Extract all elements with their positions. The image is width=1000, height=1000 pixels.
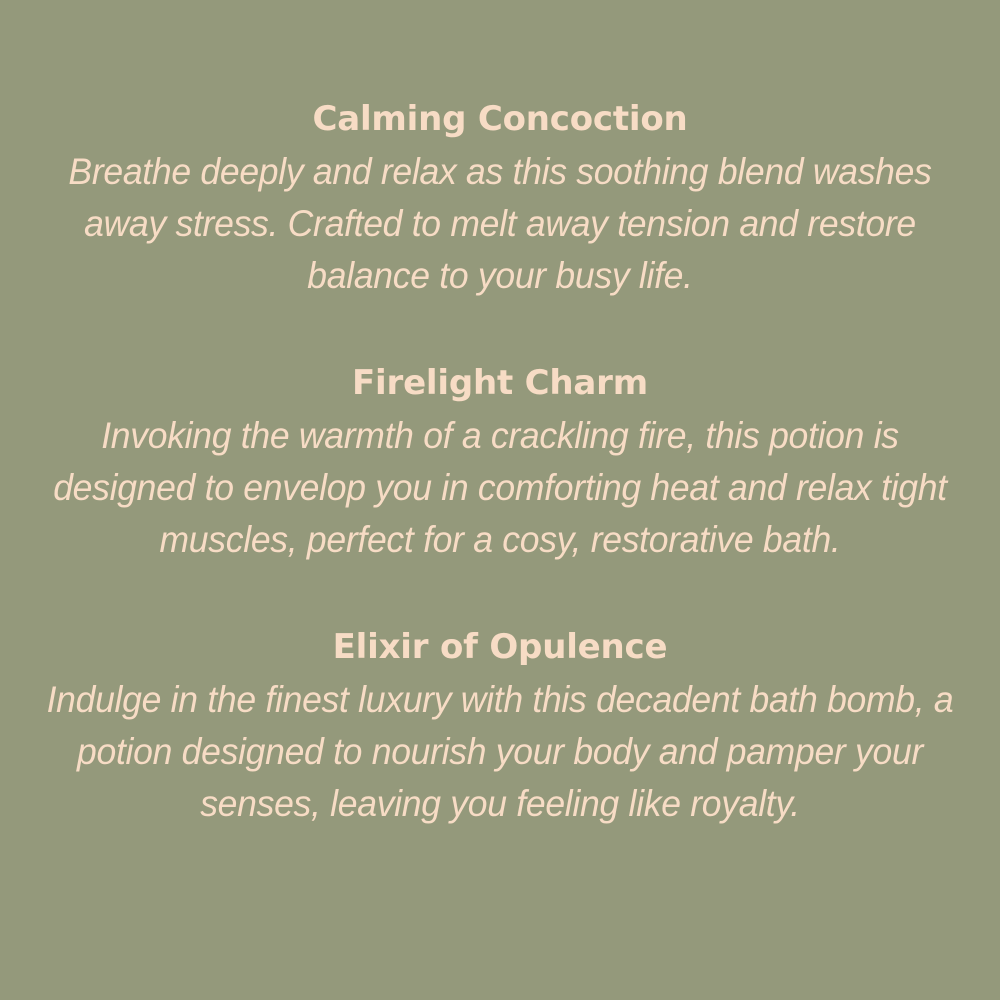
blurb-section-elixir-of-opulence: Elixir of Opulence Indulge in the finest… — [8, 624, 992, 830]
blurb-description: Indulge in the finest luxury with this d… — [28, 674, 973, 830]
blurb-title: Elixir of Opulence — [8, 624, 992, 670]
product-blurb-panel: Calming Concoction Breathe deeply and re… — [0, 0, 1000, 1000]
blurb-description: Breathe deeply and relax as this soothin… — [28, 146, 973, 302]
blurb-title: Calming Concoction — [8, 96, 992, 142]
blurb-title: Firelight Charm — [8, 360, 992, 406]
blurb-section-firelight-charm: Firelight Charm Invoking the warmth of a… — [8, 360, 992, 566]
blurb-description: Invoking the warmth of a crackling fire,… — [28, 410, 973, 566]
blurb-section-calming-concoction: Calming Concoction Breathe deeply and re… — [8, 96, 992, 302]
